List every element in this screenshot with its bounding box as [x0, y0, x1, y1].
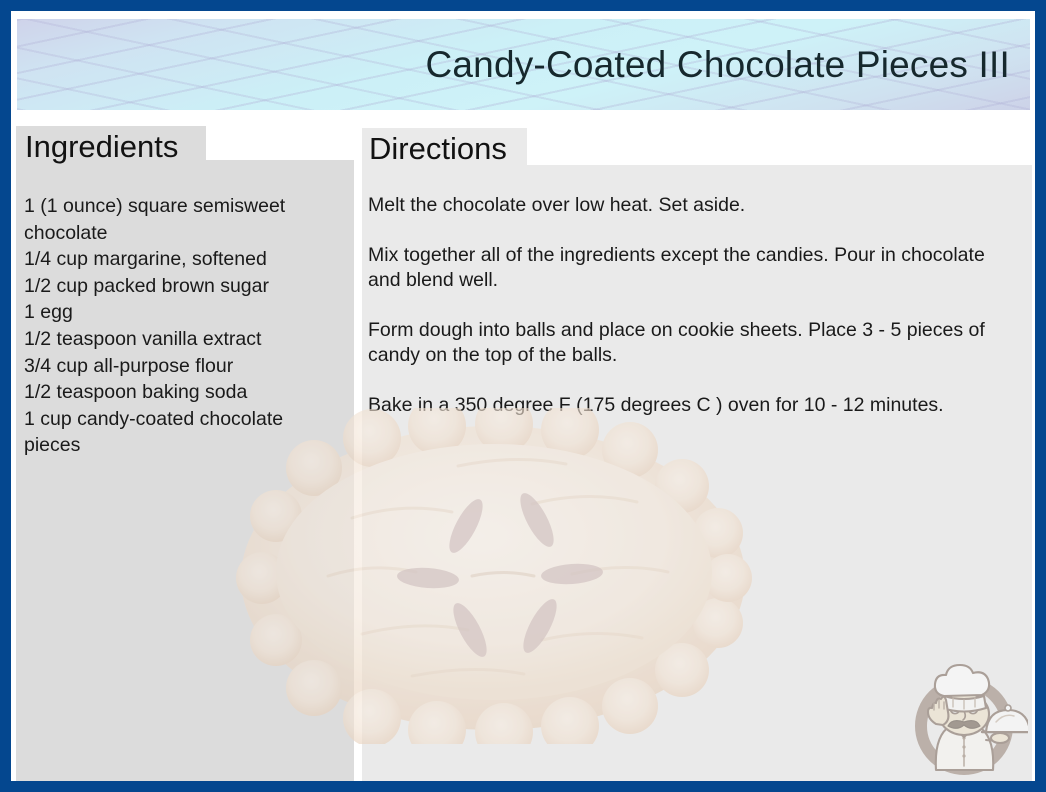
recipe-card: Candy-Coated Chocolate Pieces III Ingred…	[0, 0, 1046, 792]
ingredients-heading-label: Ingredients	[25, 129, 178, 165]
ingredients-heading-tab: Ingredients	[16, 126, 206, 168]
directions-list: Melt the chocolate over low heat. Set as…	[368, 193, 1014, 418]
direction-step: Mix together all of the ingredients exce…	[368, 243, 1014, 293]
direction-step: Melt the chocolate over low heat. Set as…	[368, 193, 1014, 218]
title-banner: Candy-Coated Chocolate Pieces III	[17, 19, 1030, 110]
direction-step: Bake in a 350 degree F (175 degrees C ) …	[368, 393, 1014, 418]
direction-step: Form dough into balls and place on cooki…	[368, 318, 1014, 368]
ingredients-list: 1 (1 ounce) square semisweet chocolate 1…	[24, 193, 342, 459]
recipe-title: Candy-Coated Chocolate Pieces III	[425, 44, 1010, 86]
directions-heading-label: Directions	[369, 131, 507, 167]
directions-heading-tab: Directions	[362, 128, 527, 170]
